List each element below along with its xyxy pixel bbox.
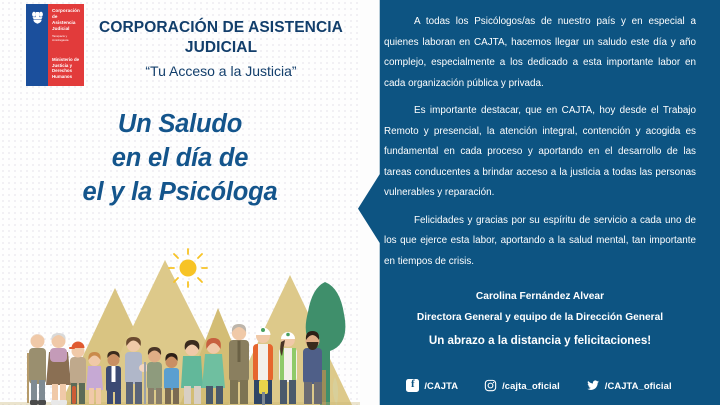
logo-red-block: Corporación de Asistencia Judicial Tarap… xyxy=(48,4,84,86)
twitter-icon xyxy=(586,379,600,392)
organization-tagline: “Tu Acceso a la Justicia” xyxy=(96,62,346,80)
logo-line-asistencia: de Asistencia xyxy=(52,14,81,26)
social-link-instagram[interactable]: /cajta_oficial xyxy=(484,379,560,392)
social-link-twitter[interactable]: /CAJTA_oficial xyxy=(586,379,672,392)
left-panel: Corporación de Asistencia Judicial Tarap… xyxy=(0,0,360,405)
coat-of-arms-icon xyxy=(29,9,46,26)
message-paragraph-3: Felicidades y gracias por su espíritu de… xyxy=(384,211,696,273)
headline-line-1: Un Saludo xyxy=(8,108,352,142)
headline: Un Saludo en el día de el y la Psicóloga xyxy=(8,108,352,210)
signature-role: Directora General y equipo de la Direcci… xyxy=(384,307,696,328)
person-elderly-man xyxy=(27,334,46,405)
message-paragraph-1: A todas los Psicólogos/as de nuestro paí… xyxy=(384,12,696,94)
message-panel: A todas los Psicólogos/as de nuestro paí… xyxy=(358,0,720,405)
cajta-ministry-logo: Corporación de Asistencia Judicial Tarap… xyxy=(26,4,84,86)
diverse-people-group-illustration xyxy=(0,230,360,405)
organization-title: CORPORACIÓN DE ASISTENCIA JUDICIAL xyxy=(96,18,346,59)
signature-name: Carolina Fernández Alvear xyxy=(384,286,696,307)
headline-line-3: el y la Psicóloga xyxy=(8,176,352,210)
instagram-icon xyxy=(484,379,497,392)
twitter-handle: /CAJTA_oficial xyxy=(605,380,672,391)
logo-blue-block xyxy=(26,4,48,86)
signature-closing: Un abrazo a la distancia y felicitacione… xyxy=(384,329,696,353)
instagram-handle: /cajta_oficial xyxy=(502,380,560,391)
logo-line-judicial: Judicial xyxy=(52,26,81,32)
signature-block: Carolina Fernández Alvear Directora Gene… xyxy=(384,286,696,353)
logo-line-antofagasta: Antofagasta xyxy=(52,38,81,42)
sun-icon xyxy=(169,249,207,287)
facebook-handle: /CAJTA xyxy=(424,380,458,391)
logo-line-humanos: Humanos xyxy=(52,74,81,80)
poster-root: Corporación de Asistencia Judicial Tarap… xyxy=(0,0,720,405)
message-paragraph-2: Es importante destacar, que en CAJTA, ho… xyxy=(384,101,696,204)
logo-line-ministerio: Ministerio de xyxy=(52,57,81,63)
social-link-facebook[interactable]: f /CAJTA xyxy=(406,379,458,392)
facebook-icon: f xyxy=(406,379,419,392)
headline-line-2: en el día de xyxy=(8,142,352,176)
social-footer: f /CAJTA /cajta_oficial /CAJTA_oficial xyxy=(358,374,720,396)
logo-line-corporacion: Corporación xyxy=(52,8,81,14)
